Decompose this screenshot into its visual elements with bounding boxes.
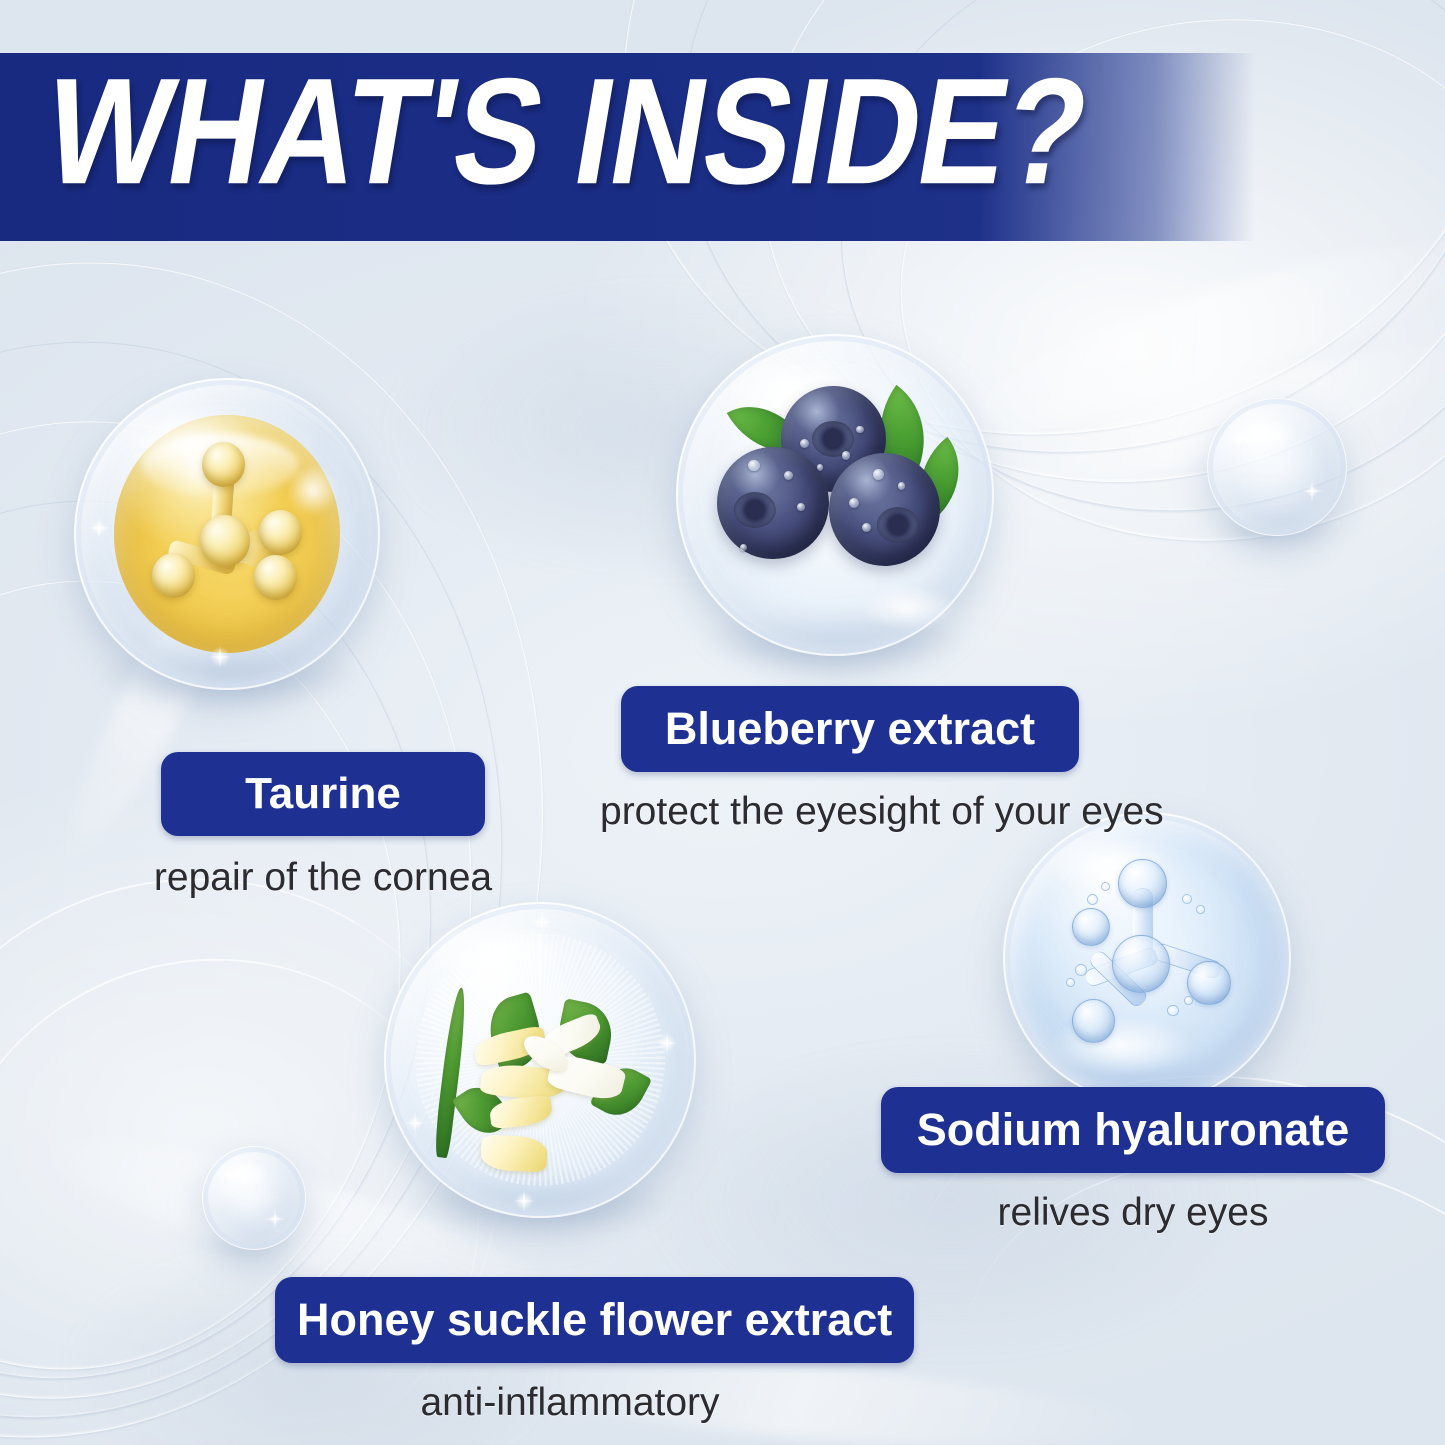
molecule-atom-top <box>202 442 245 487</box>
hyaluronate-atom-left <box>1072 908 1109 946</box>
ingredient-benefit-taurine: repair of the cornea <box>113 856 533 900</box>
taurine-droplet-image <box>74 378 380 690</box>
ingredient-name-honeysuckle[interactable]: Honey suckle flower extract <box>275 1277 914 1363</box>
molecule-atom-right <box>259 510 302 555</box>
honeysuckle-droplet-image <box>384 902 696 1218</box>
ingredient-name-taurine[interactable]: Taurine <box>161 752 485 836</box>
label-group-taurine: Taurine repair of the cornea <box>113 752 533 900</box>
molecule-atom-center <box>200 515 250 567</box>
page-title: WHAT'S INSIDE? <box>35 57 1097 208</box>
ingredient-name-sodium-hyaluronate[interactable]: Sodium hyaluronate <box>881 1087 1386 1173</box>
blueberry-droplet-image <box>676 334 994 656</box>
header-banner: WHAT'S INSIDE? <box>0 53 1255 241</box>
hyaluronate-atom-bl <box>1072 999 1115 1043</box>
blueberry-right <box>829 453 940 566</box>
sodium-hyaluronate-droplet-image <box>1003 812 1291 1104</box>
ingredient-name-blueberry[interactable]: Blueberry extract <box>621 686 1079 772</box>
decor-droplet-top-right <box>1207 398 1347 536</box>
molecule-atom-left <box>152 553 195 598</box>
blueberry-left <box>717 447 828 560</box>
label-group-blueberry: Blueberry extract protect the eyesight o… <box>600 686 1100 834</box>
ingredient-infographic-poster: WHAT'S INSIDE? <box>0 0 1445 1445</box>
ingredient-benefit-blueberry: protect the eyesight of your eyes <box>600 790 1100 834</box>
hyaluronate-atom-center <box>1112 935 1170 993</box>
label-group-honeysuckle: Honey suckle flower extract anti-inflamm… <box>275 1277 865 1425</box>
label-group-sodium-hyaluronate: Sodium hyaluronate relives dry eyes <box>848 1087 1418 1235</box>
ingredient-benefit-honeysuckle: anti-inflammatory <box>275 1381 865 1425</box>
hyaluronate-atom-right <box>1187 961 1230 1005</box>
ingredient-benefit-sodium-hyaluronate: relives dry eyes <box>848 1191 1418 1235</box>
hyaluronate-atom-top <box>1118 859 1167 909</box>
decor-droplet-bottom-left <box>202 1146 306 1250</box>
